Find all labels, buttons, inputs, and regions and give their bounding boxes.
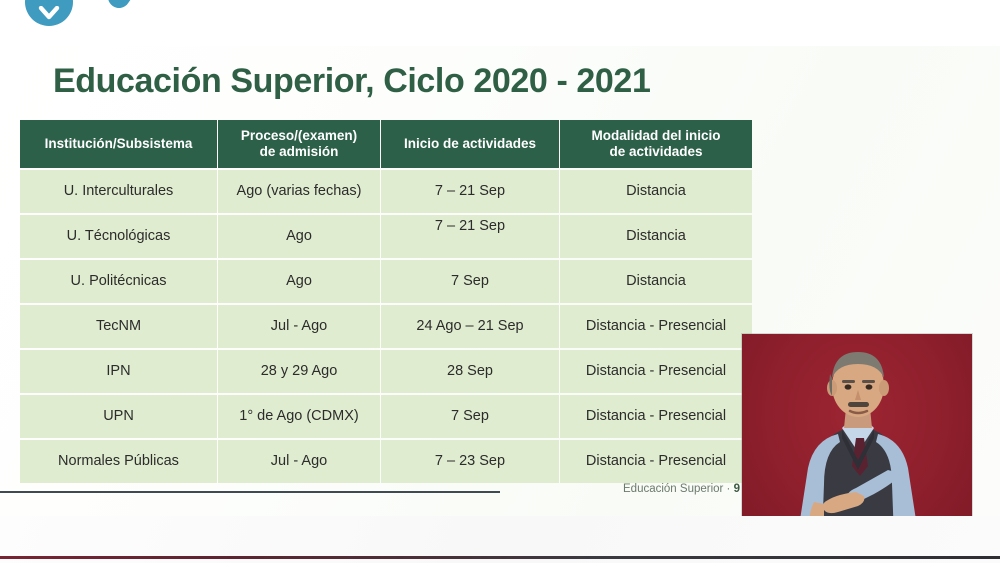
verified-check-icon[interactable] xyxy=(25,0,73,26)
cell-inicio: 7 – 21 Sep xyxy=(381,170,559,213)
cell-inicio: 7 – 23 Sep xyxy=(381,440,559,483)
cell-inicio: 24 Ago – 21 Sep xyxy=(381,305,559,348)
column-header-inicio: Inicio de actividades xyxy=(381,120,559,168)
cell-proceso: Jul - Ago xyxy=(218,440,380,483)
table-row: IPN 28 y 29 Ago 28 Sep Distancia - Prese… xyxy=(20,350,752,393)
cell-proceso: 28 y 29 Ago xyxy=(218,350,380,393)
cell-modalidad: Distancia xyxy=(560,260,752,303)
cell-inicio: 28 Sep xyxy=(381,350,559,393)
interpreter-figure-icon xyxy=(742,334,972,546)
cell-modalidad: Distancia - Presencial xyxy=(560,350,752,393)
cell-modalidad: Distancia - Presencial xyxy=(560,305,752,348)
footer-divider xyxy=(0,491,500,493)
column-header-proceso: Proceso/(examen) de admisión xyxy=(218,120,380,168)
cell-proceso: Ago xyxy=(218,215,380,258)
cell-modalidad: Distancia - Presencial xyxy=(560,395,752,438)
slide-number: 9 xyxy=(734,483,740,495)
cell-proceso: 1° de Ago (CDMX) xyxy=(218,395,380,438)
table-header-row: Institución/Subsistema Proceso/(examen) … xyxy=(20,120,752,168)
cell-modalidad: Distancia xyxy=(560,215,752,258)
cell-institucion: Normales Públicas xyxy=(20,440,217,483)
table-row: UPN 1° de Ago (CDMX) 7 Sep Distancia - P… xyxy=(20,395,752,438)
bottom-chrome xyxy=(0,516,1000,563)
top-strip xyxy=(0,0,1000,46)
cell-institucion: U. Técnológicas xyxy=(20,215,217,258)
page-title: Educación Superior, Ciclo 2020 - 2021 xyxy=(53,62,650,101)
table-row: U. Técnológicas Ago 7 – 21 Sep Distancia xyxy=(20,215,752,258)
schedule-table: Institución/Subsistema Proceso/(examen) … xyxy=(19,118,751,485)
table-row: TecNM Jul - Ago 24 Ago – 21 Sep Distanci… xyxy=(20,305,752,348)
cell-proceso: Jul - Ago xyxy=(218,305,380,348)
screenshot-root: Educación Superior, Ciclo 2020 - 2021 In… xyxy=(0,0,1000,563)
column-header-modalidad: Modalidad del inicio de actividades xyxy=(560,120,752,168)
sign-language-video[interactable] xyxy=(742,334,972,546)
column-header-institucion: Institución/Subsistema xyxy=(20,120,217,168)
cell-inicio: 7 Sep xyxy=(381,395,559,438)
cell-institucion: IPN xyxy=(20,350,217,393)
cell-inicio: 7 Sep xyxy=(381,260,559,303)
cell-proceso: Ago (varias fechas) xyxy=(218,170,380,213)
slide-footer: Educación Superior · 9 xyxy=(500,483,740,495)
table: Institución/Subsistema Proceso/(examen) … xyxy=(19,118,753,485)
slide-canvas: Educación Superior, Ciclo 2020 - 2021 In… xyxy=(0,46,1000,516)
bottom-divider xyxy=(0,556,1000,559)
cell-inicio: 7 – 21 Sep xyxy=(381,215,559,258)
cell-institucion: U. Interculturales xyxy=(20,170,217,213)
footer-label: Educación Superior · xyxy=(623,483,734,495)
cell-institucion: UPN xyxy=(20,395,217,438)
cell-modalidad: Distancia xyxy=(560,170,752,213)
cell-institucion: TecNM xyxy=(20,305,217,348)
table-row: U. Politécnicas Ago 7 Sep Distancia xyxy=(20,260,752,303)
cell-institucion: U. Politécnicas xyxy=(20,260,217,303)
table-row: Normales Públicas Jul - Ago 7 – 23 Sep D… xyxy=(20,440,752,483)
cell-modalidad: Distancia - Presencial xyxy=(560,440,752,483)
teardrop-mark-icon xyxy=(104,0,135,12)
cell-proceso: Ago xyxy=(218,260,380,303)
table-row: U. Interculturales Ago (varias fechas) 7… xyxy=(20,170,752,213)
